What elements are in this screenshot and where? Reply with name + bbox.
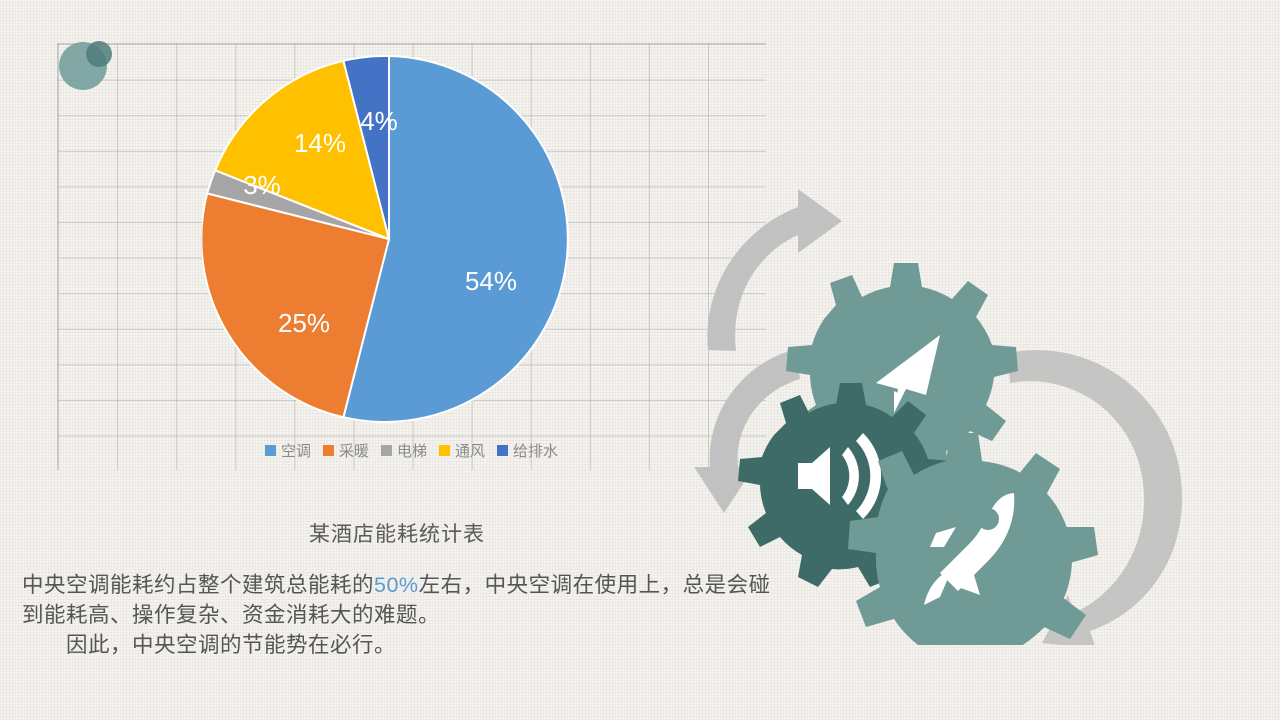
legend-item-4[interactable]: 给排水: [497, 440, 558, 461]
body-line-1-part-a: 中央空调能耗约占整个建筑总能耗的: [22, 573, 374, 597]
pie-label-4: 4%: [360, 106, 398, 136]
decorative-circles-logo: [58, 40, 112, 91]
pie-chart[interactable]: 54% 25% 3% 14% 4%: [202, 52, 576, 426]
pie-label-1: 25%: [278, 308, 330, 338]
pie-label-0: 54%: [465, 266, 517, 296]
chart-title: 某酒店能耗统计表: [57, 518, 737, 548]
body-line-3-text: 因此，中央空调的节能势在必行。: [66, 633, 396, 657]
bottom-gear[interactable]: [848, 433, 1098, 645]
legend-swatch-icon: [381, 445, 392, 456]
legend-label: 采暖: [339, 440, 369, 461]
legend-label: 通风: [455, 440, 485, 461]
legend-swatch-icon: [497, 445, 508, 456]
pie-label-2: 3%: [243, 170, 281, 200]
legend-item-3[interactable]: 通风: [439, 440, 485, 461]
body-highlight-50pct: 50%: [374, 573, 419, 597]
legend-item-1[interactable]: 采暖: [323, 440, 369, 461]
logo-circle-small: [86, 41, 112, 67]
legend-swatch-icon: [323, 445, 334, 456]
legend-label: 空调: [281, 440, 311, 461]
legend-item-0[interactable]: 空调: [265, 440, 311, 461]
chart-legend: 空调 采暖 电梯 通风 给排水: [57, 440, 766, 461]
legend-swatch-icon: [265, 445, 276, 456]
three-gears-illustration: [690, 175, 1280, 645]
pie-label-3: 14%: [294, 128, 346, 158]
pie-chart-svg: 54% 25% 3% 14% 4%: [202, 52, 576, 426]
legend-item-2[interactable]: 电梯: [381, 440, 427, 461]
legend-swatch-icon: [439, 445, 450, 456]
slide-canvas: 54% 25% 3% 14% 4% 空调 采暖 电梯 通风 给排水: [0, 0, 1280, 720]
legend-label: 给排水: [513, 440, 558, 461]
legend-label: 电梯: [397, 440, 427, 461]
